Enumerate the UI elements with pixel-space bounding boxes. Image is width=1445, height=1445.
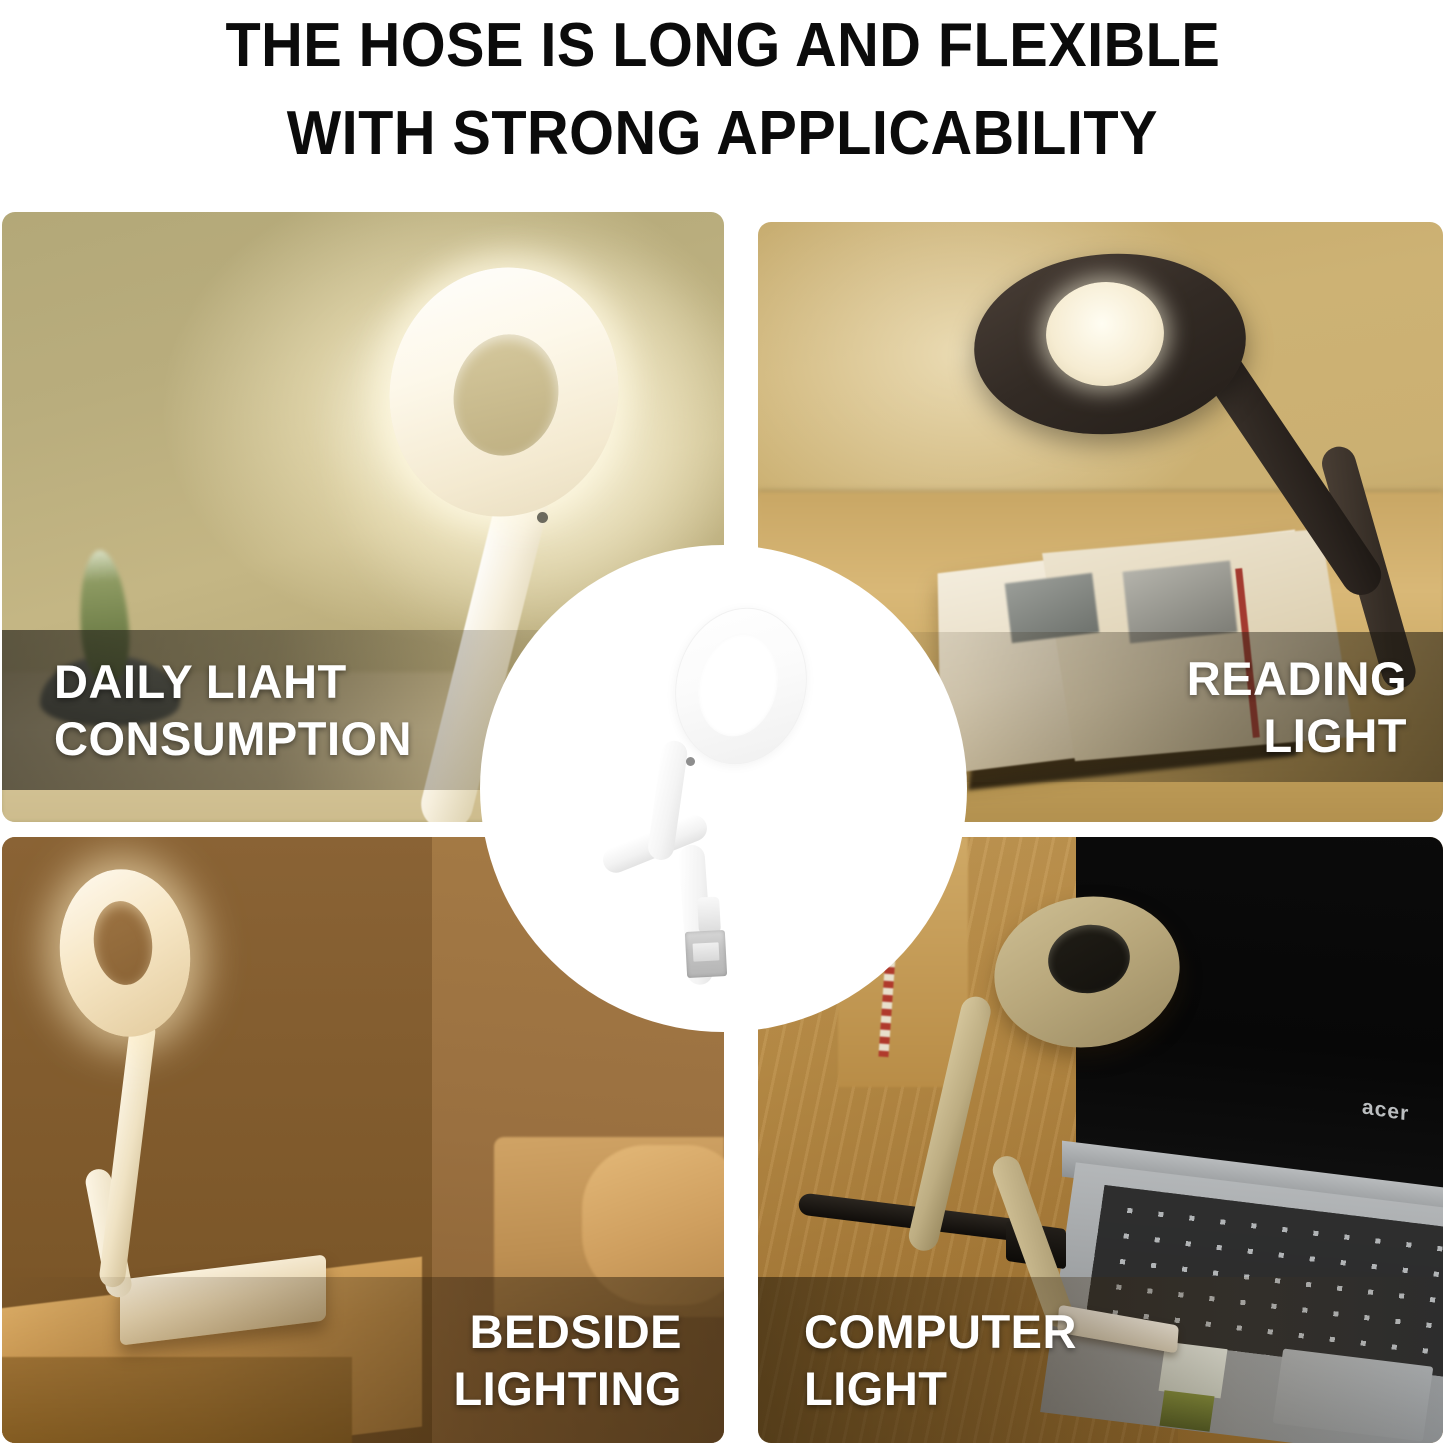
headline-line-1: THE HOSE IS LONG AND FLEXIBLE [225, 2, 1220, 90]
label-line-1: READING [1187, 650, 1407, 707]
label-band-computer-light: COMPUTER LIGHT [758, 1277, 1443, 1443]
label-line-2: LIGHT [804, 1360, 947, 1417]
label-line-2: CONSUMPTION [54, 710, 412, 767]
headline-line-2: WITH STRONG APPLICABILITY [287, 90, 1158, 178]
label-band-bedside-lighting: BEDSIDE LIGHTING [2, 1277, 724, 1443]
label-line-1: BEDSIDE [470, 1303, 682, 1360]
product-power-button-icon [686, 757, 695, 766]
lamp-power-button-icon [537, 512, 548, 523]
label-line-2: LIGHT [1264, 707, 1407, 764]
label-line-1: DAILY LIAHT [54, 653, 347, 710]
product-usb-contacts [693, 942, 720, 961]
magazine-photo-2 [1123, 561, 1238, 644]
product-feature-image: THE HOSE IS LONG AND FLEXIBLE WITH STRON… [0, 0, 1445, 1445]
headline: THE HOSE IS LONG AND FLEXIBLE WITH STRON… [0, 0, 1445, 205]
center-product-circle [480, 545, 967, 1032]
product-usb-strain-relief [697, 896, 721, 933]
label-line-2: LIGHTING [453, 1360, 682, 1417]
label-line-1: COMPUTER [804, 1303, 1077, 1360]
